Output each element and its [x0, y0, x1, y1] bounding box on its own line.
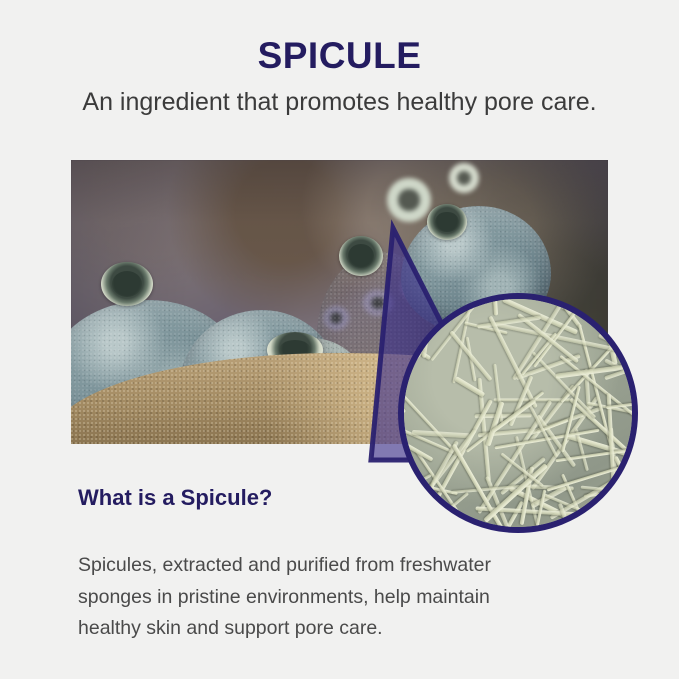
spicule-magnifier: [398, 293, 638, 533]
spicule-needle: [398, 530, 405, 533]
spicule-needle: [401, 528, 450, 533]
sponge-osculum: [427, 204, 467, 240]
spicule-needle: [422, 326, 430, 359]
body-paragraph: Spicules, extracted and purified from fr…: [78, 550, 593, 645]
section-heading: What is a Spicule?: [78, 484, 272, 513]
background-sponge-tube: [387, 178, 431, 222]
page-subtitle: An ingredient that promotes healthy pore…: [0, 87, 679, 118]
paragraph-line: healthy skin and support pore care.: [78, 613, 593, 645]
background-sponge-tube: [449, 163, 479, 193]
infographic-page: SPICULE An ingredient that promotes heal…: [0, 0, 679, 679]
spicule-needle: [577, 501, 638, 533]
sponge-osculum: [339, 236, 383, 276]
spicule-needle: [634, 416, 637, 533]
header: SPICULE An ingredient that promotes heal…: [0, 36, 679, 118]
spicule-needles: [398, 293, 638, 533]
spicule-needle: [491, 527, 537, 533]
page-title: SPICULE: [0, 36, 679, 77]
sponge-osculum: [101, 262, 153, 306]
spicule-needle: [492, 293, 498, 315]
paragraph-line: sponges in pristine environments, help m…: [78, 582, 593, 614]
paragraph-line: Spicules, extracted and purified from fr…: [78, 550, 593, 582]
spicule-needle: [575, 429, 589, 471]
